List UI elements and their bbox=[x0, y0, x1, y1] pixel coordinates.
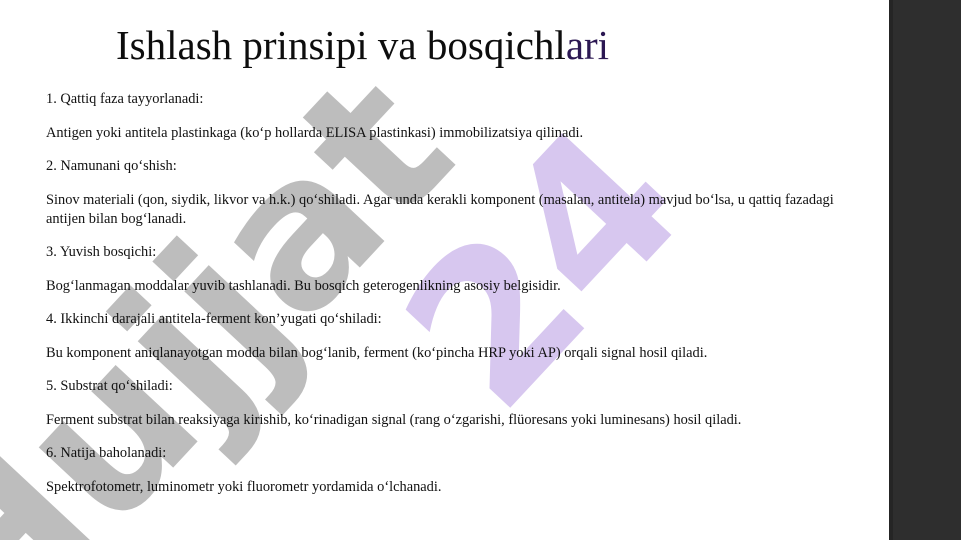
slide-title-main: Ishlash prinsipi va bosqichl bbox=[116, 22, 566, 68]
slide-title-accent: ari bbox=[566, 22, 609, 68]
right-panel-edge-shadow bbox=[889, 0, 893, 540]
body-paragraph-step-2-body: Sinov materiali (qon, siydik, likvor va … bbox=[46, 191, 851, 229]
body-paragraph-step-3-heading: 3. Yuvish bosqichi: bbox=[46, 243, 856, 262]
slide-content-area: Ishlash prinsipi va bosqichlari 1. Qatti… bbox=[0, 0, 889, 540]
body-paragraph-step-1-heading: 1. Qattiq faza tayyorlanadi: bbox=[46, 90, 856, 109]
body-paragraph-step-4-body: Bu komponent aniqlanayotgan modda bilan … bbox=[46, 344, 851, 363]
body-paragraph-step-6-heading: 6. Natija baholanadi: bbox=[46, 444, 856, 463]
slide-title: Ishlash prinsipi va bosqichlari bbox=[116, 24, 609, 67]
body-paragraph-step-1-body: Antigen yoki antitela plastinkaga (ko‘p … bbox=[46, 124, 851, 143]
body-paragraph-step-2-heading: 2. Namunani qo‘shish: bbox=[46, 157, 856, 176]
body-paragraph-step-5-body: Ferment substrat bilan reaksiyaga kirish… bbox=[46, 411, 851, 430]
body-paragraph-step-6-body: Spektrofotometr, luminometr yoki fluorom… bbox=[46, 478, 851, 497]
body-paragraph-step-5-heading: 5. Substrat qo‘shiladi: bbox=[46, 377, 856, 396]
body-paragraph-step-3-body: Bog‘lanmagan moddalar yuvib tashlanadi. … bbox=[46, 277, 851, 296]
presentation-slide: Hujjat 24 Ishlash prinsipi va bosqichlar… bbox=[0, 0, 961, 540]
slide-body-text-block: 1. Qattiq faza tayyorlanadi: Antigen yok… bbox=[46, 90, 856, 511]
right-dark-panel bbox=[889, 0, 961, 540]
body-paragraph-step-4-heading: 4. Ikkinchi darajali antitela-ferment ko… bbox=[46, 310, 856, 329]
